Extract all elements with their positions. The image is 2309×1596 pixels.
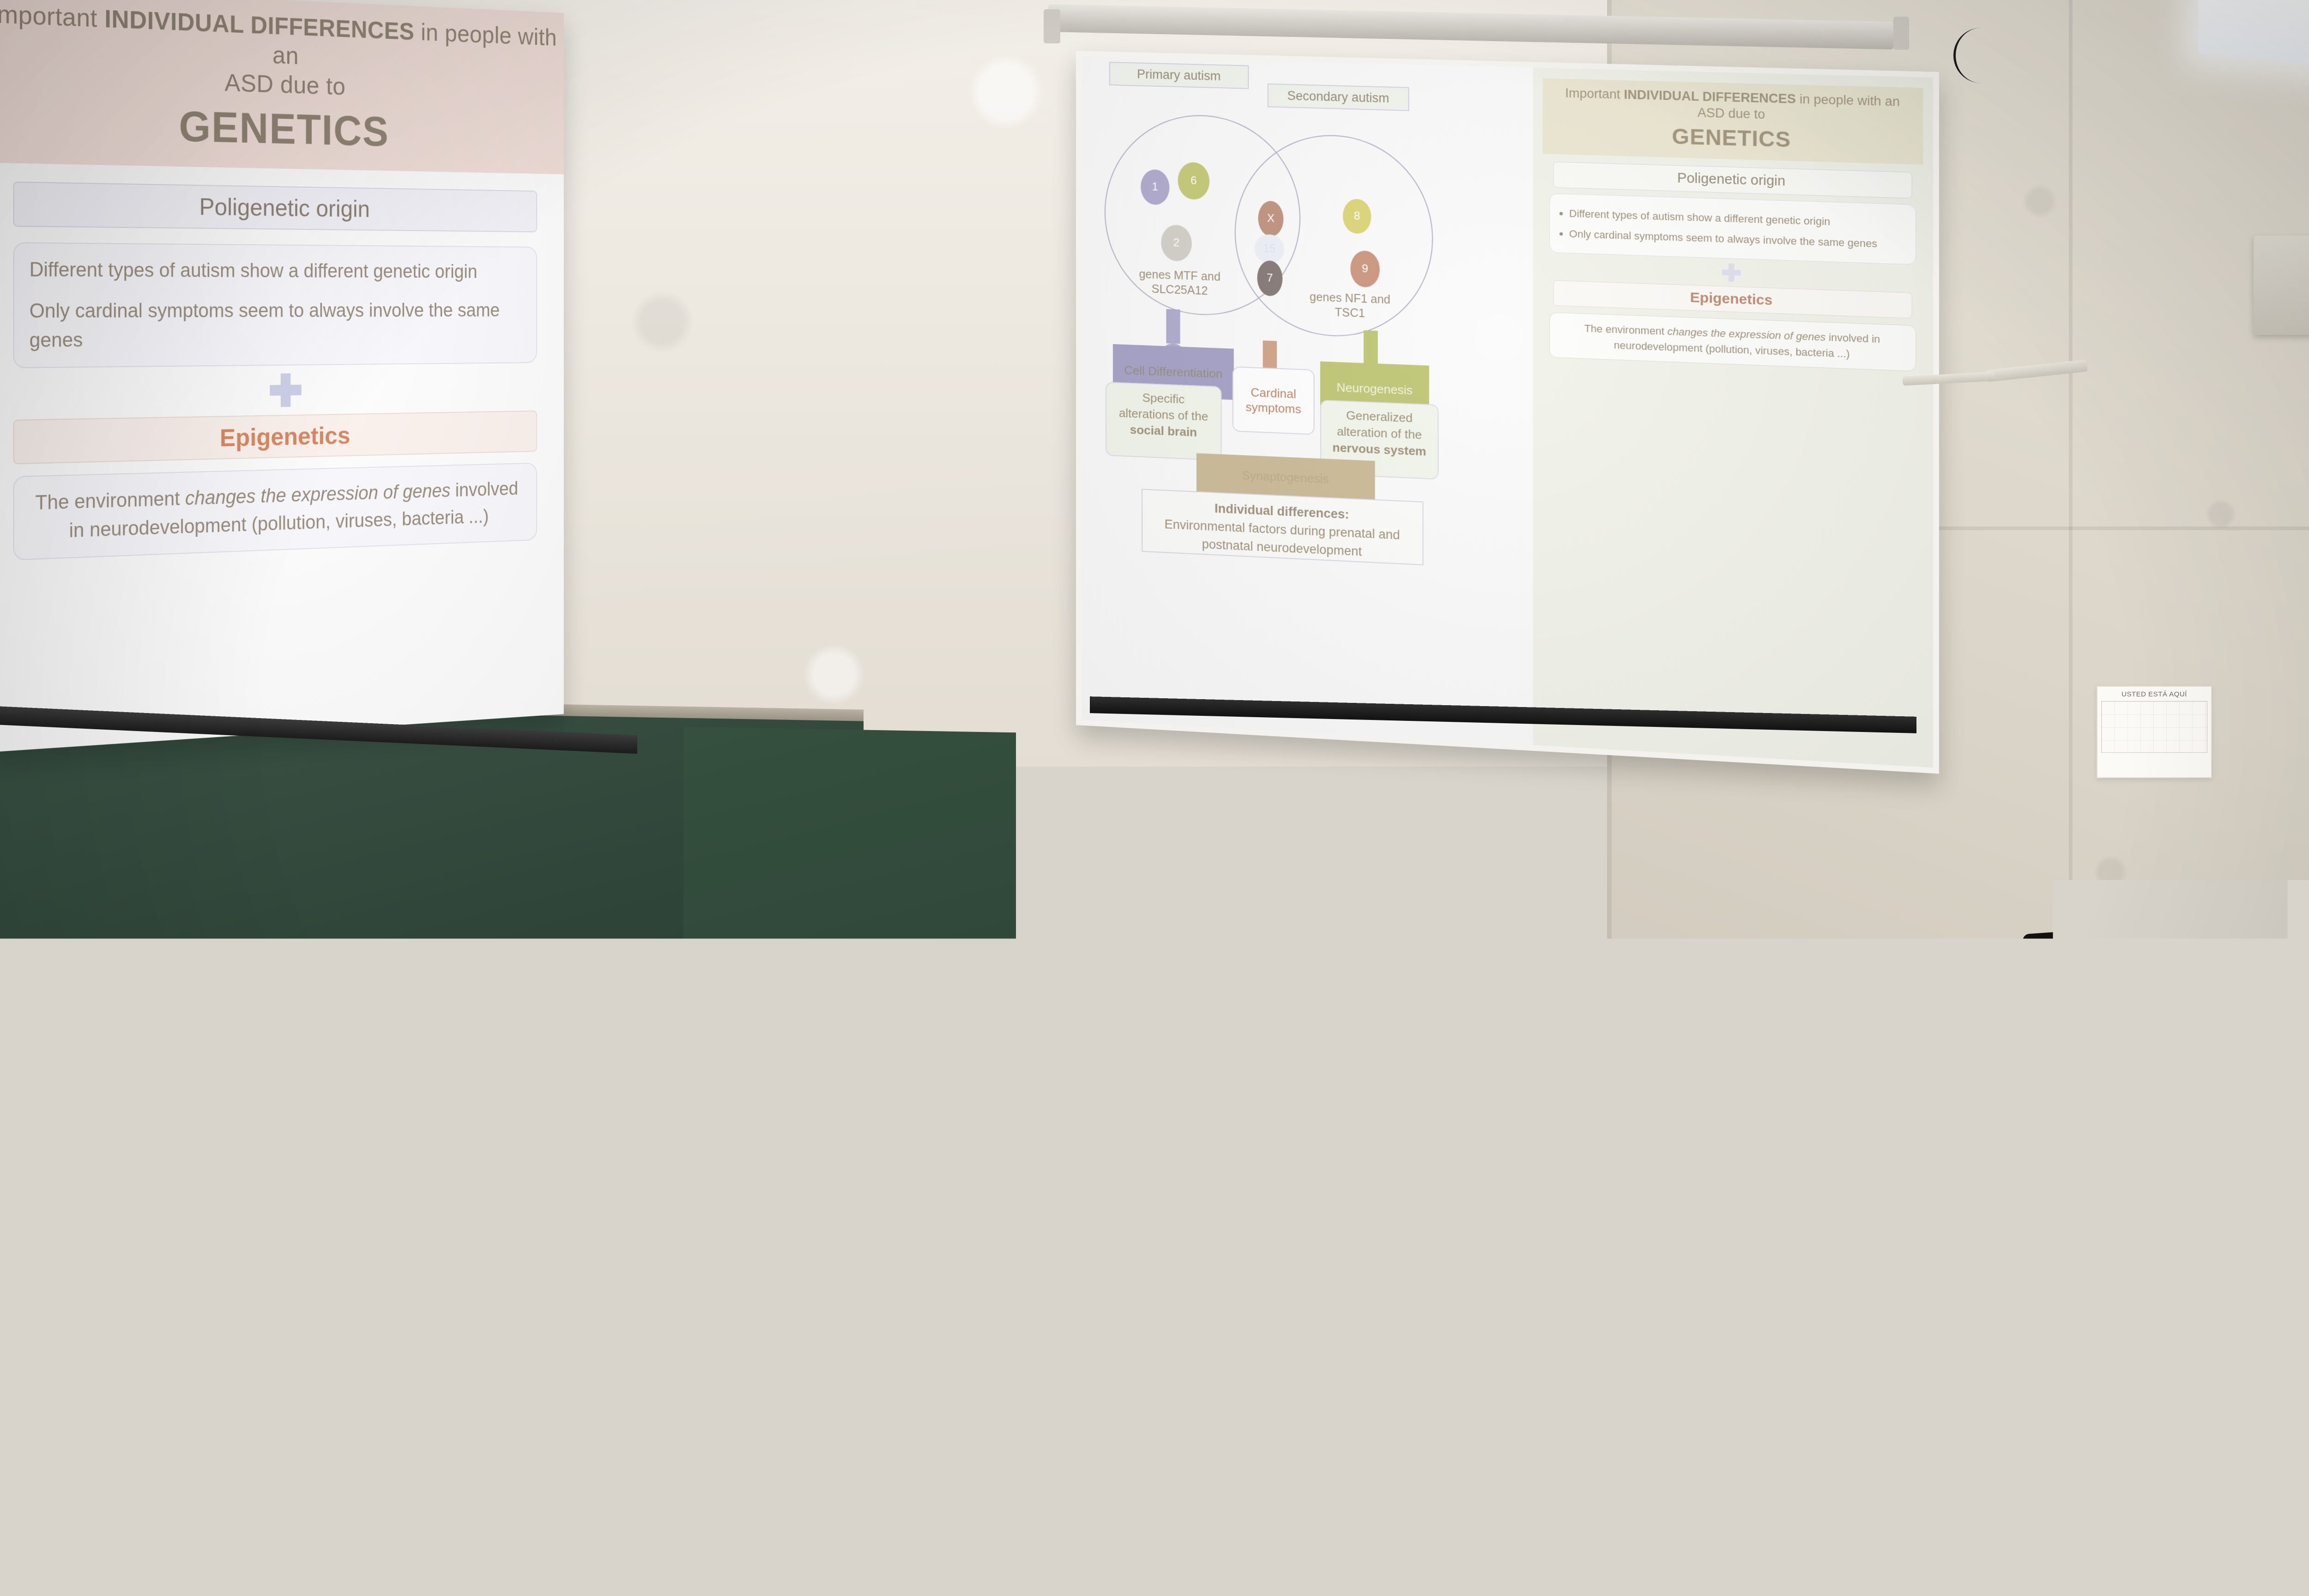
- slide-right-summary: Important INDIVIDUAL DIFFERENCES in peop…: [1533, 68, 1933, 768]
- header-pre: Important: [0, 0, 104, 33]
- slide-right-diagram: Primary autism Secondary autism 1 6 2 X …: [1082, 56, 1533, 745]
- podium-microphone-head: [2022, 931, 2065, 948]
- ceiling-cable: [1953, 28, 2009, 83]
- poligenetic-bullets: Different types of autism show a differe…: [13, 242, 537, 368]
- tag-secondary-autism: Secondary autism: [1268, 84, 1409, 111]
- summary-header-emphasis: INDIVIDUAL DIFFERENCES: [1624, 87, 1796, 106]
- summary-bullets: Different types of autism show a differe…: [1549, 193, 1916, 265]
- speaker-glasses-right-lens: [1586, 1017, 1628, 1036]
- slide-left: Important INDIVIDUAL DIFFERENCES in peop…: [0, 0, 564, 753]
- outcome-right-bold: nervous system: [1332, 441, 1426, 459]
- wine-glass: [272, 1261, 323, 1395]
- attendee-ear: [1949, 1141, 1982, 1187]
- evacuation-plan-title: USTED ESTÁ AQUÍ: [2101, 690, 2207, 698]
- summary-header-pre: Important: [1565, 86, 1624, 102]
- evacuation-plan-sign: USTED ESTÁ AQUÍ: [2097, 686, 2212, 778]
- summary-epigenetics-title: Epigenetics: [1553, 280, 1912, 318]
- right-attendee-hair: [2207, 1191, 2309, 1515]
- summary-epigenetics-text: The environment changes the expression o…: [1549, 312, 1916, 371]
- chromosome-X: X: [1258, 200, 1283, 236]
- chromosome-9: 9: [1350, 250, 1380, 288]
- header-title: GENETICS: [0, 97, 560, 160]
- individual-differences-text: Environmental factors during prenatal an…: [1147, 514, 1418, 564]
- chromosome-7: 7: [1257, 260, 1282, 296]
- summary-epi-pre: The environment: [1584, 322, 1668, 337]
- person-attendee-right-edge: [2189, 1191, 2309, 1596]
- summary-header: Important INDIVIDUAL DIFFERENCES in peop…: [1542, 79, 1923, 165]
- outcome-left-bold: social brain: [1130, 423, 1197, 439]
- chromosome-6: 6: [1178, 162, 1210, 200]
- chromosome-2: 2: [1161, 224, 1191, 262]
- plus-connector-icon: [270, 373, 301, 407]
- poligenetic-origin-title: Poligenetic origin: [13, 181, 537, 232]
- speaker-glasses: [1542, 1018, 1585, 1038]
- wall-speaker: [2254, 236, 2309, 335]
- summary-poligenetic-title: Poligenetic origin: [1553, 162, 1912, 199]
- epi-italic: changes the expression of genes: [185, 480, 450, 509]
- tag-primary-autism: Primary autism: [1109, 62, 1249, 89]
- evacuation-plan-map: [2101, 701, 2207, 753]
- summary-epi-italic: changes the expression of genes: [1667, 325, 1825, 343]
- slide-left-header: Important INDIVIDUAL DIFFERENCES in peop…: [0, 0, 564, 175]
- epigenetics-title: Epigenetics: [13, 410, 537, 464]
- summary-header-post: in people with an: [1796, 92, 1900, 109]
- epi-pre: The environment: [35, 487, 185, 514]
- epigenetics-text: The environment changes the expression o…: [13, 462, 537, 560]
- attendee-shoulder: [1127, 1492, 1247, 1596]
- screen-roller-right: [1893, 17, 1909, 50]
- panelist-lanyard-badge: [619, 1203, 656, 1251]
- summary-plus-icon: [1722, 263, 1741, 282]
- chromosome-8: 8: [1343, 199, 1371, 234]
- attendee-hair-highlight: [1224, 1136, 1408, 1275]
- outcome-specific-social-brain: Specific alterations of the social brain: [1106, 382, 1221, 461]
- screen-roller-left: [1044, 9, 1060, 43]
- person-attendee-red-hair: [1108, 1118, 1598, 1596]
- chair-seat: [65, 1475, 351, 1582]
- bullet-2: Only cardinal symptoms seem to always in…: [30, 296, 523, 355]
- attendee-hair: [1953, 1030, 2143, 1168]
- bullet-1: Different types of autism show a differe…: [30, 255, 523, 286]
- projection-screen-right: Primary autism Secondary autism 1 6 2 X …: [1076, 51, 1939, 774]
- header-emphasis: INDIVIDUAL DIFFERENCES: [104, 4, 414, 45]
- genes-label-primary: genes MTF and SLC25A12: [1124, 267, 1236, 300]
- panelist-hair: [580, 974, 713, 1067]
- panelist-ear: [597, 1057, 622, 1090]
- genes-label-secondary: genes NF1 and TSC1: [1300, 290, 1400, 322]
- person-panelist-male: [485, 947, 836, 1455]
- seated-shoe: [942, 1538, 1053, 1589]
- right-attendee-torso: [2189, 1469, 2309, 1596]
- chromosome-1: 1: [1141, 169, 1169, 205]
- projection-screen-left: Important INDIVIDUAL DIFFERENCES in peop…: [0, 0, 564, 753]
- slide-right: Primary autism Secondary autism 1 6 2 X …: [1082, 56, 1933, 768]
- lecture-hall-photograph: Important INDIVIDUAL DIFFERENCES in peop…: [0, 0, 2309, 1596]
- process-cardinal-symptoms: Cardinal symptoms: [1233, 366, 1315, 435]
- individual-differences-box: Individual differences: Environmental fa…: [1142, 489, 1423, 565]
